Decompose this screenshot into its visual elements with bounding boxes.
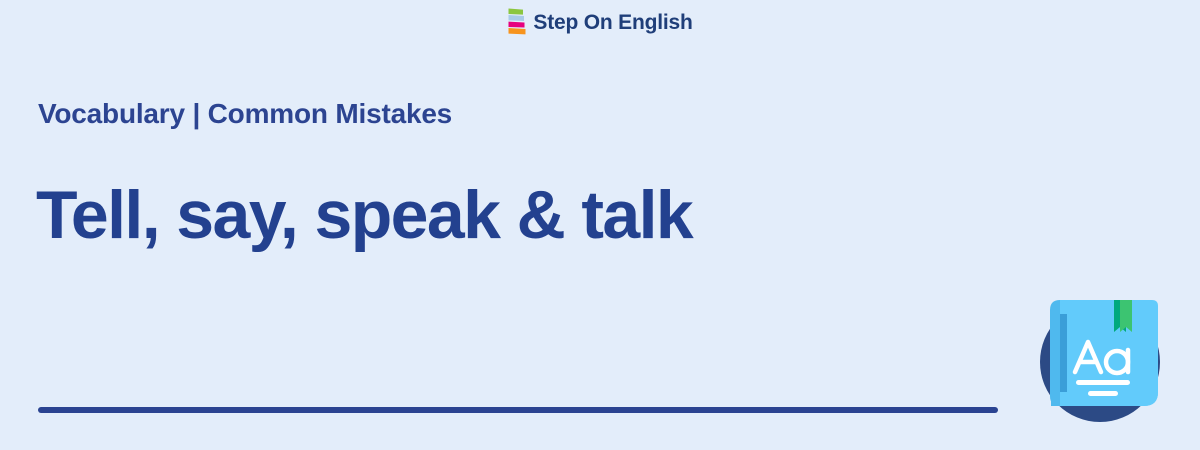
brand-logo[interactable]: Step On English bbox=[0, 8, 1200, 36]
page-title: Tell, say, speak & talk bbox=[36, 180, 692, 251]
dictionary-book-illustration bbox=[1032, 288, 1168, 424]
bookmark-ribbon bbox=[1114, 300, 1132, 332]
slide-canvas: Step On English Vocabulary | Common Mist… bbox=[0, 0, 1200, 450]
book-graphic bbox=[1050, 300, 1158, 406]
text-line-short bbox=[1088, 391, 1118, 396]
divider-rule bbox=[38, 407, 998, 413]
stacked-steps-logo-icon bbox=[507, 8, 526, 36]
brand-name: Step On English bbox=[533, 12, 692, 33]
page-kicker: Vocabulary | Common Mistakes bbox=[38, 98, 452, 130]
text-line-long bbox=[1076, 380, 1130, 385]
